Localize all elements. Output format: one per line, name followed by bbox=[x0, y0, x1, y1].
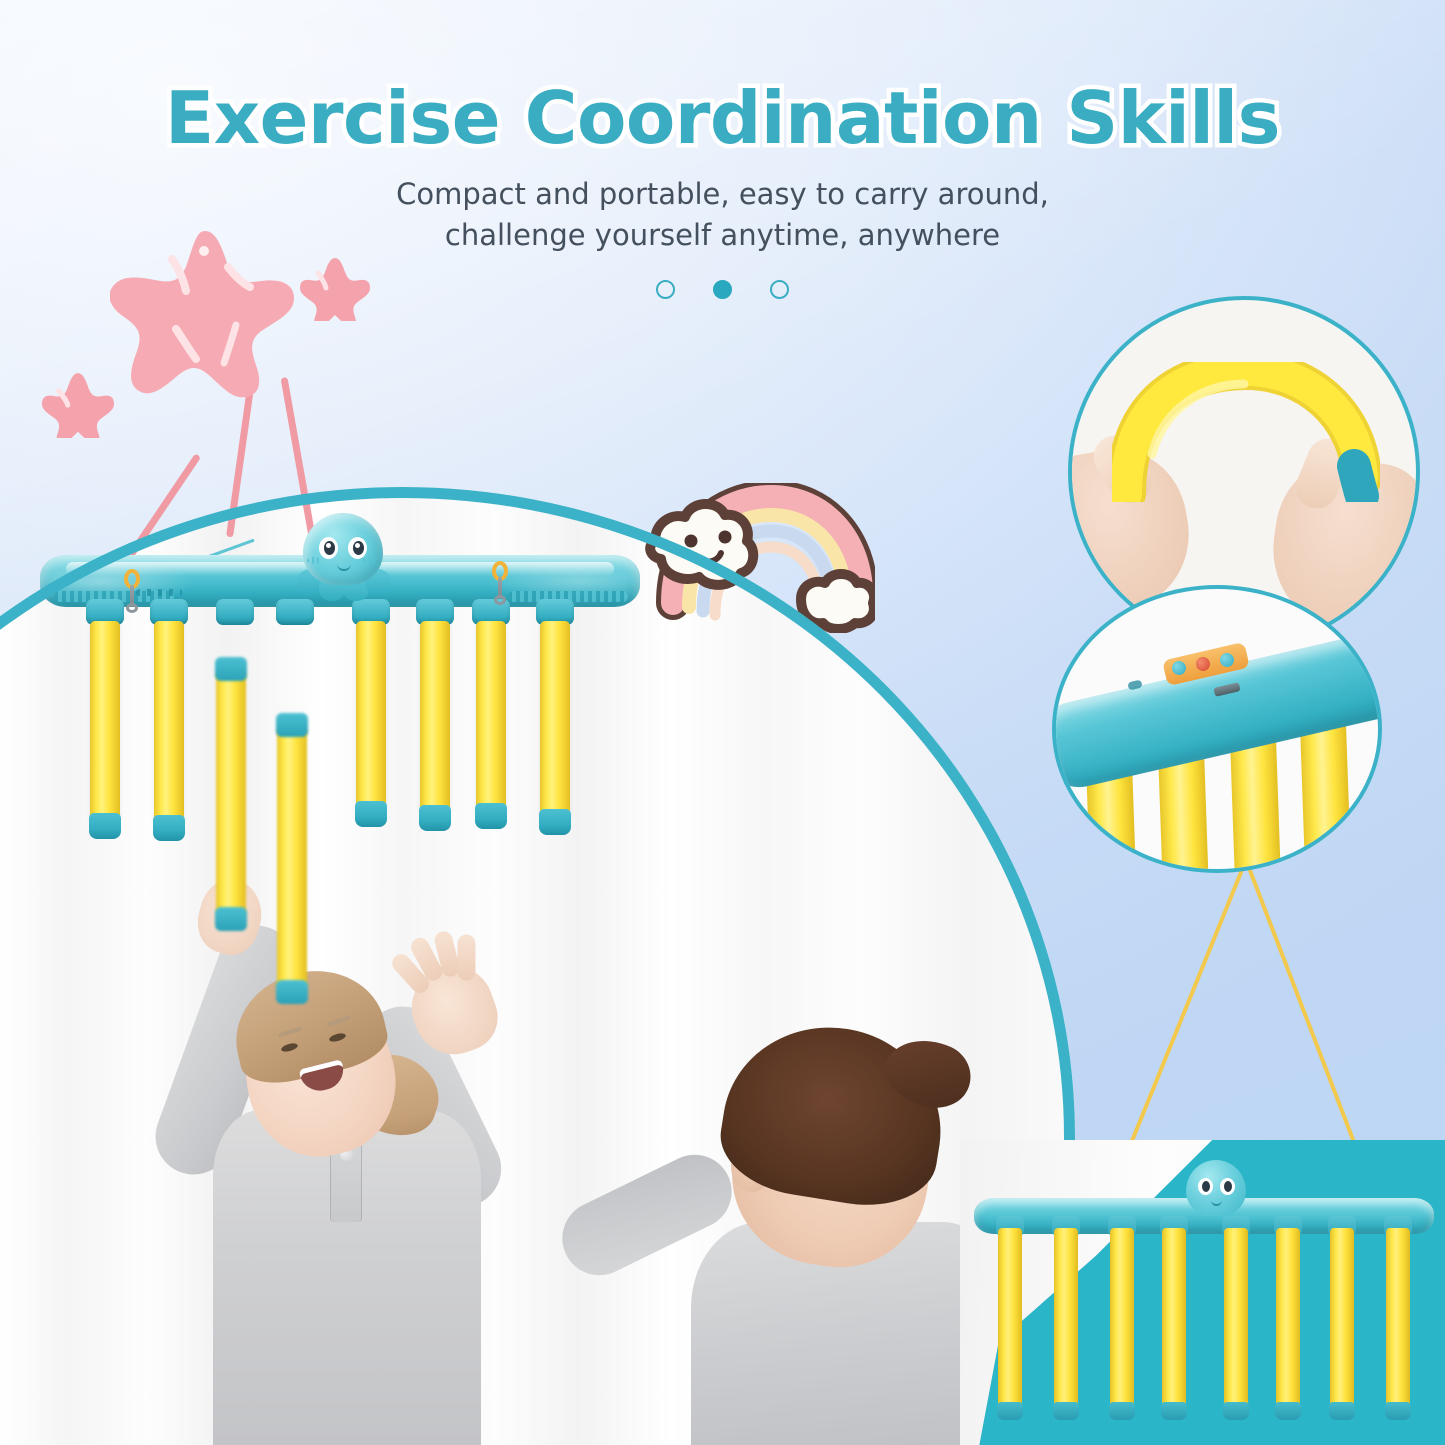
product-view-tip-6 bbox=[1275, 1402, 1301, 1420]
star-small-left bbox=[42, 370, 114, 438]
cloud-left bbox=[650, 504, 753, 585]
stick-8 bbox=[540, 621, 570, 817]
falling-stick-1-bottom-tip bbox=[215, 907, 247, 931]
product-view-stick-1 bbox=[998, 1228, 1022, 1413]
product-view-tip-2 bbox=[1053, 1402, 1079, 1420]
stick-tip-7 bbox=[475, 803, 507, 829]
product-view-full bbox=[960, 1140, 1445, 1445]
product-view-octopus-head bbox=[1186, 1160, 1246, 1216]
product-view-stick-5 bbox=[1224, 1228, 1248, 1413]
product-view-stick-7 bbox=[1330, 1228, 1354, 1413]
stick-tip-2 bbox=[153, 815, 185, 841]
octopus-blush-right bbox=[363, 557, 377, 564]
clip-eyelet-left bbox=[126, 603, 138, 613]
stick-5 bbox=[356, 621, 386, 809]
inset-control-panel bbox=[1052, 585, 1382, 873]
product-octopus-stick-toy bbox=[40, 555, 640, 955]
page-title: Exercise Coordination Skills bbox=[0, 0, 1445, 160]
carabiner-clip-right bbox=[492, 561, 508, 587]
octopus-blush-left bbox=[307, 557, 321, 564]
subtitle-line-2: challenge yourself anytime, anywhere bbox=[445, 218, 1000, 252]
product-view-stick-3 bbox=[1110, 1228, 1134, 1413]
product-view-stick-4 bbox=[1162, 1228, 1186, 1413]
stick-tip-5 bbox=[355, 801, 387, 827]
toy-bar-speaker-vents bbox=[136, 589, 182, 596]
product-view-stick-8 bbox=[1386, 1228, 1410, 1413]
inset1-bent-yellow-stick bbox=[1112, 362, 1380, 502]
stick-tip-6 bbox=[419, 805, 451, 831]
octopus-eye-shine-right bbox=[355, 543, 360, 548]
product-view-tip-5 bbox=[1223, 1402, 1249, 1420]
stick-socket-3 bbox=[216, 599, 254, 625]
product-view-stick-2 bbox=[1054, 1228, 1078, 1413]
falling-stick-2-bottom-tip bbox=[276, 980, 308, 1004]
carousel-dot-1[interactable] bbox=[656, 280, 675, 299]
banner-root: Exercise Coordination Skills Compact and… bbox=[0, 0, 1445, 1445]
falling-stick-2 bbox=[277, 727, 307, 989]
header-block: Exercise Coordination Skills Compact and… bbox=[0, 0, 1445, 299]
star-trail-3 bbox=[123, 453, 201, 565]
child-girl bbox=[95, 960, 565, 1445]
stick-tip-8 bbox=[539, 809, 571, 835]
octopus-mascot bbox=[295, 513, 391, 605]
falling-stick-2-top-tip bbox=[276, 713, 308, 737]
cloud-right bbox=[801, 574, 874, 629]
octopus-head bbox=[303, 513, 383, 585]
stick-1 bbox=[90, 621, 120, 821]
clip-eyelet-right bbox=[494, 595, 506, 605]
page-subtitle: Compact and portable, easy to carry arou… bbox=[0, 174, 1445, 256]
stick-tip-1 bbox=[89, 813, 121, 839]
falling-stick-1 bbox=[216, 671, 246, 916]
carousel-dots[interactable] bbox=[0, 280, 1445, 299]
product-view-tip-4 bbox=[1161, 1402, 1187, 1420]
carousel-dot-3[interactable] bbox=[770, 280, 789, 299]
product-view-tip-7 bbox=[1329, 1402, 1355, 1420]
product-view-stick-6 bbox=[1276, 1228, 1300, 1413]
stick-6 bbox=[420, 621, 450, 813]
falling-stick-1-top-tip bbox=[215, 657, 247, 681]
stick-2 bbox=[154, 621, 184, 823]
product-view-octopus-pupil-left bbox=[1202, 1181, 1210, 1192]
product-view-tip-8 bbox=[1385, 1402, 1411, 1420]
star-trail-1 bbox=[226, 388, 254, 538]
rainbow-cloud-decoration bbox=[625, 483, 875, 633]
subtitle-line-1: Compact and portable, easy to carry arou… bbox=[396, 177, 1049, 211]
product-view-tip-3 bbox=[1109, 1402, 1135, 1420]
stick-7 bbox=[476, 621, 506, 811]
carousel-dot-2-active[interactable] bbox=[713, 280, 732, 299]
product-view-tip-1 bbox=[997, 1402, 1023, 1420]
product-view-octopus-pupil-right bbox=[1224, 1181, 1232, 1192]
carabiner-clip-left bbox=[124, 569, 140, 595]
octopus-eye-shine-left bbox=[326, 543, 331, 548]
